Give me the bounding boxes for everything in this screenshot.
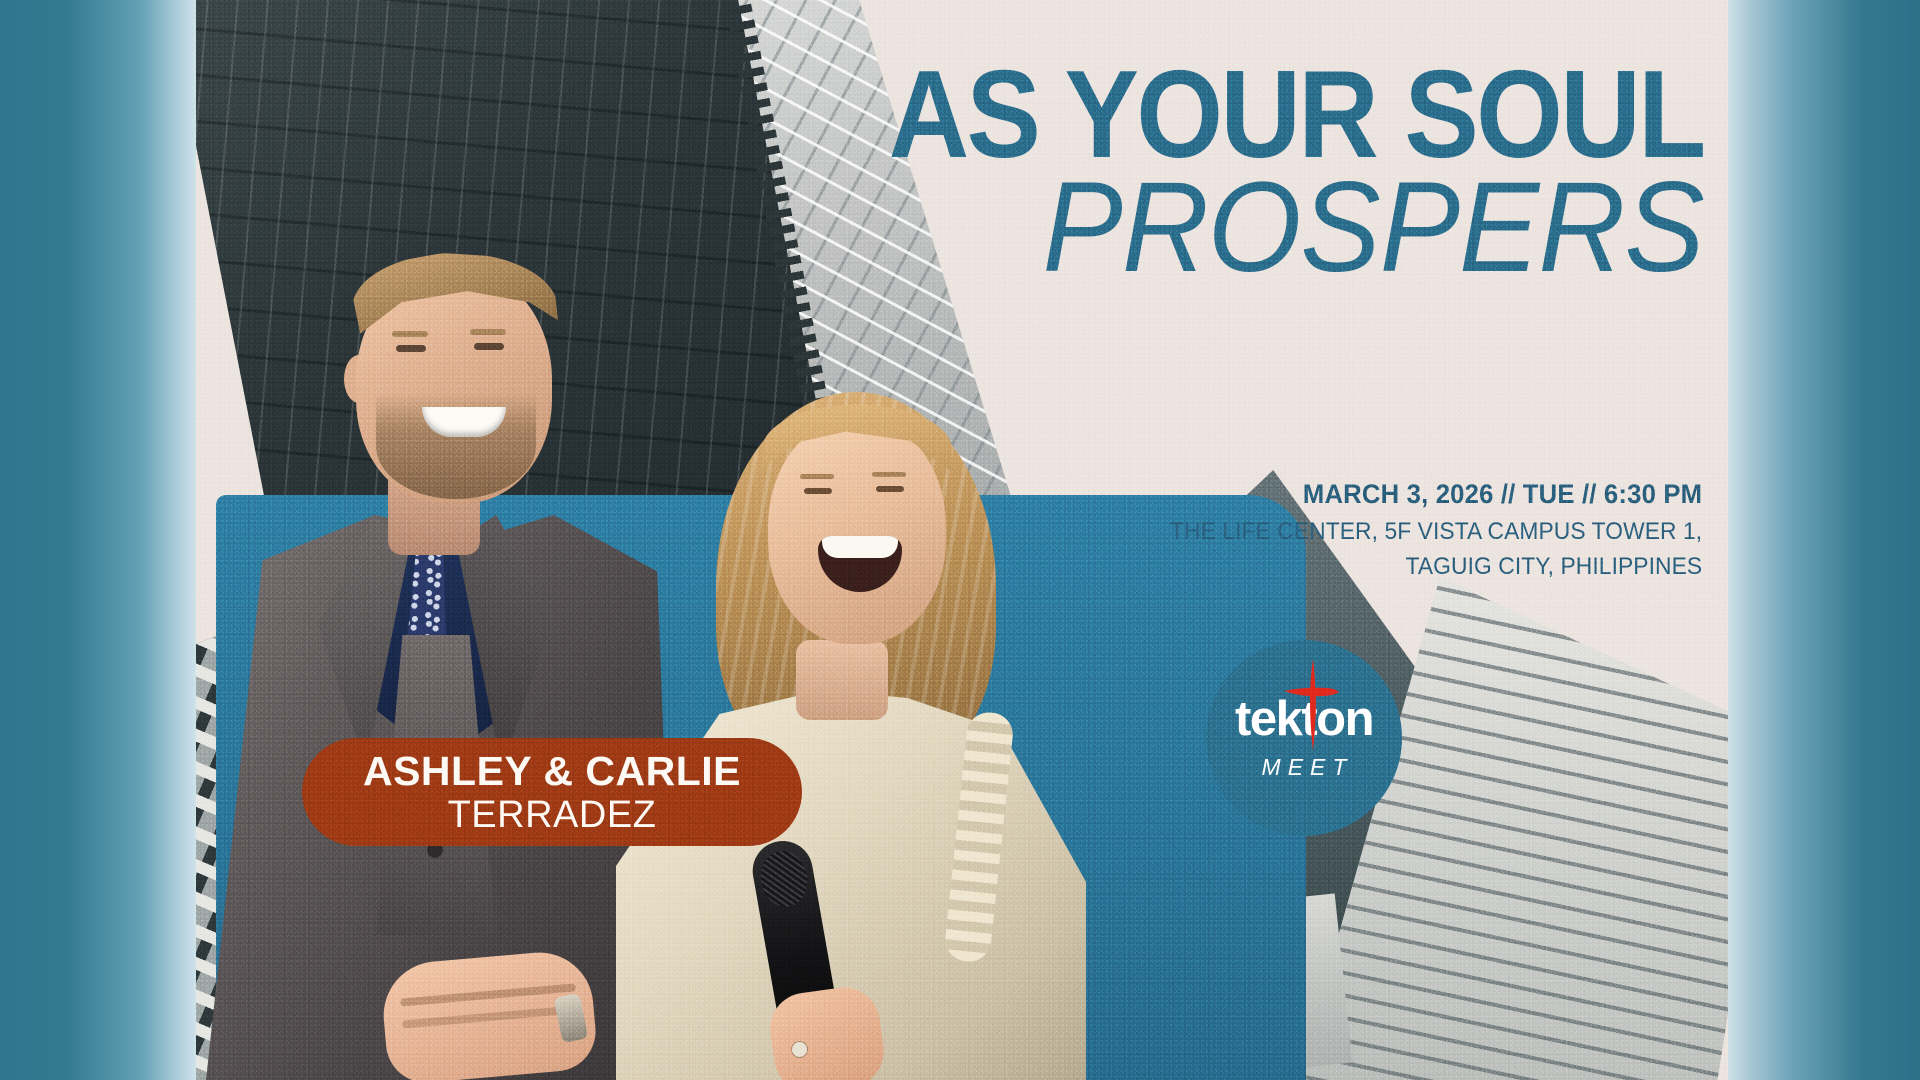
- headline-block: AS YOUR SOUL PROSPERS: [798, 58, 1704, 292]
- event-venue-line-2: TAGUIG CITY, PHILIPPINES: [1170, 551, 1702, 582]
- tekton-wordmark: tekton: [1235, 695, 1373, 744]
- speaker-name-badge: ASHLEY & CARLIE TERRADEZ: [302, 738, 802, 846]
- headline-line-1: AS YOUR SOUL: [889, 58, 1704, 172]
- man-eyebrow-right: [470, 329, 506, 335]
- tekton-wordmark-text: tekton: [1235, 692, 1373, 746]
- speaker-woman-figure: [596, 340, 1096, 1080]
- left-gradient-bar: [0, 0, 196, 1080]
- woman-eye-left: [804, 488, 832, 494]
- right-gradient-bar: [1728, 0, 1920, 1080]
- speaker-first-names: ASHLEY & CARLIE: [363, 751, 741, 792]
- poster-canvas: AS YOUR SOUL PROSPERS MARCH 3, 2026 // T…: [196, 0, 1728, 1080]
- event-venue-line-1: THE LIFE CENTER, 5F VISTA CAMPUS TOWER 1…: [1170, 516, 1702, 547]
- woman-teeth: [822, 536, 898, 558]
- poster-stage: AS YOUR SOUL PROSPERS MARCH 3, 2026 // T…: [0, 0, 1920, 1080]
- man-eyebrow-left: [392, 331, 428, 337]
- woman-eyebrow-right: [872, 472, 906, 477]
- speakers-photo: [196, 200, 1096, 1080]
- event-details-block: MARCH 3, 2026 // TUE // 6:30 PM THE LIFE…: [1142, 478, 1702, 582]
- woman-neck: [796, 640, 888, 720]
- woman-eye-right: [876, 486, 904, 492]
- man-eye-right: [474, 343, 504, 350]
- woman-eyebrow-left: [800, 474, 834, 479]
- woman-face: [768, 418, 946, 644]
- woman-ring: [792, 1042, 807, 1057]
- headline-line-2: PROSPERS: [853, 164, 1704, 292]
- speaker-surname: TERRADEZ: [448, 796, 657, 834]
- tekton-tagline: MEET: [1255, 754, 1354, 781]
- man-eye-left: [396, 345, 426, 352]
- tekton-meet-logo: tekton MEET: [1206, 640, 1402, 836]
- event-date-time: MARCH 3, 2026 // TUE // 6:30 PM: [1170, 478, 1702, 512]
